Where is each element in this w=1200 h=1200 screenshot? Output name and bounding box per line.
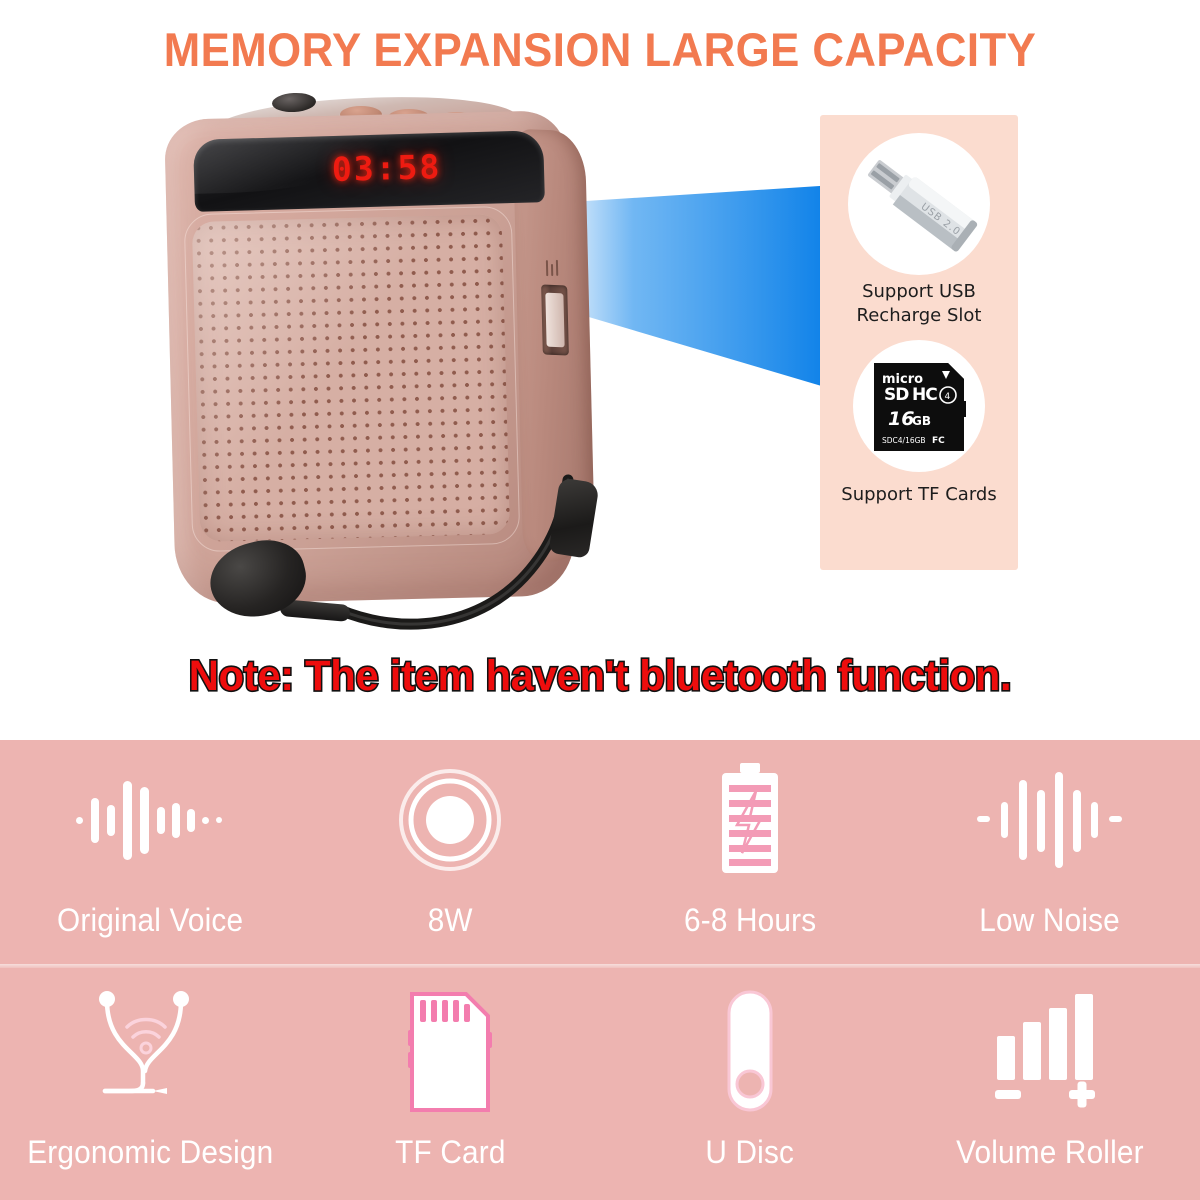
- feature-grid: Original Voice 8W: [0, 740, 1200, 1200]
- svg-text:HC: HC: [912, 385, 937, 405]
- usb-key-icon: [711, 994, 789, 1110]
- usb-caption: Support USB Recharge Slot: [820, 280, 1018, 328]
- feature-original-voice: Original Voice: [0, 740, 300, 963]
- microsd-card-icon: micro SD HC 4 16 GB SDC4/16GB FC: [856, 343, 982, 469]
- tf-caption: Support TF Cards: [820, 483, 1018, 507]
- bluetooth-disclaimer-note: Note: The item haven't bluetooth functio…: [18, 652, 1182, 701]
- feature-label: 8W: [427, 902, 472, 939]
- svg-text:GB: GB: [912, 414, 931, 428]
- feature-label: 6-8 Hours: [684, 902, 816, 939]
- svg-text:SDC4/16GB: SDC4/16GB: [882, 436, 926, 445]
- headset-wireless-icon: [85, 994, 215, 1110]
- microphone-gooseneck: [150, 450, 620, 650]
- led-display-screen: 03:58: [193, 130, 545, 212]
- feature-label: Ergonomic Design: [27, 1134, 273, 1171]
- svg-text:16: 16: [888, 408, 914, 430]
- feature-ergonomic-design: Ergonomic Design: [0, 972, 300, 1195]
- feature-label: Low Noise: [980, 902, 1121, 939]
- svg-text:4: 4: [945, 392, 951, 402]
- support-info-panel: USB 2.0 Support USB Recharge Slot micro …: [820, 115, 1018, 570]
- voice-amplifier-device: 03:58: [150, 90, 620, 650]
- feature-label: U Disc: [706, 1134, 795, 1171]
- speaker-power-icon: [395, 762, 505, 878]
- feature-volume-roller: Volume Roller: [900, 972, 1200, 1195]
- usb-side-label-icon: [538, 250, 569, 281]
- feature-label: Volume Roller: [956, 1134, 1144, 1171]
- feature-power-8w: 8W: [300, 740, 600, 963]
- led-time-readout: 03:58: [331, 147, 441, 189]
- usb-caption-line2: Recharge Slot: [820, 304, 1018, 328]
- feature-low-noise: Low Noise: [900, 740, 1200, 963]
- feature-row-1: Original Voice 8W: [0, 740, 1200, 963]
- sd-card-icon: [404, 994, 496, 1110]
- hero-stage: MEMORY EXPANSION LARGE CAPACITY: [0, 0, 1200, 740]
- usb-port: [541, 284, 569, 355]
- feature-battery-life: 6-8 Hours: [600, 740, 900, 963]
- svg-text:FC: FC: [932, 436, 945, 446]
- feature-row-divider: [0, 964, 1200, 968]
- usb-flash-drive-icon: USB 2.0: [850, 135, 990, 275]
- feature-label: Original Voice: [57, 902, 243, 939]
- feature-label: TF Card: [395, 1134, 505, 1171]
- feature-u-disc: U Disc: [600, 972, 900, 1195]
- svg-text:SD: SD: [884, 385, 909, 405]
- page-title: MEMORY EXPANSION LARGE CAPACITY: [42, 22, 1158, 77]
- sound-wave-icon: [70, 762, 230, 878]
- volume-bars-icon: [991, 994, 1109, 1110]
- tf-caption-line1: Support TF Cards: [820, 483, 1018, 507]
- feature-tf-card: TF Card: [300, 972, 600, 1195]
- feature-row-2: Ergonomic Design: [0, 972, 1200, 1195]
- low-noise-wave-icon: [975, 762, 1125, 878]
- usb-caption-line1: Support USB: [820, 280, 1018, 304]
- battery-charge-icon: [704, 762, 796, 878]
